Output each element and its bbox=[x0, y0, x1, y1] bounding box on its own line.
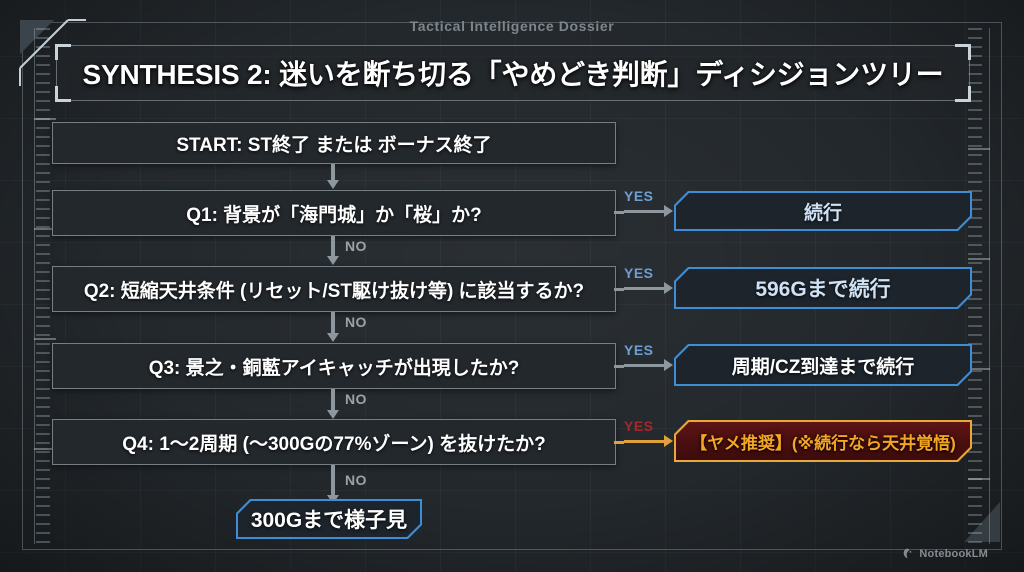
notebooklm-icon bbox=[901, 547, 914, 560]
dossier-subtitle: Tactical Intelligence Dossier bbox=[0, 18, 1024, 34]
branch-stub-4 bbox=[614, 441, 624, 444]
branch-stub-1 bbox=[614, 211, 624, 214]
slide-canvas: Tactical Intelligence Dossier SYNTHESIS … bbox=[0, 0, 1024, 572]
branch-label-yes-3: YES bbox=[624, 342, 654, 358]
outcome-label: 続行 bbox=[804, 198, 842, 225]
outcome-label: 596Gまで続行 bbox=[755, 273, 890, 303]
branch-label-yes-2: YES bbox=[624, 265, 654, 281]
branch-label-no-3: NO bbox=[345, 391, 367, 407]
flow-node-q1[interactable]: Q1: 背景が「海門城」か「桜」か? bbox=[52, 190, 616, 236]
outcome-box-596g[interactable]: 596Gまで続行 bbox=[674, 267, 972, 309]
flow-node-q2[interactable]: Q2: 短縮天井条件 (リセット/ST駆け抜け等) に該当するか? bbox=[52, 266, 616, 312]
branch-stub-3 bbox=[614, 365, 624, 368]
watermark: NotebookLM bbox=[901, 547, 988, 560]
outcome-label: 周期/CZ到達まで続行 bbox=[732, 352, 915, 379]
terminal-node-300g[interactable]: 300Gまで様子見 bbox=[236, 499, 422, 539]
title-frame: SYNTHESIS 2: 迷いを断ち切る「やめどき判断」ディシジョンツリー bbox=[56, 45, 970, 101]
flow-node-q3[interactable]: Q3: 景之・銅藍アイキャッチが出現したか? bbox=[52, 343, 616, 389]
flow-node-label: Q2: 短縮天井条件 (リセット/ST駆け抜け等) に該当するか? bbox=[84, 276, 584, 303]
flow-node-label: START: ST終了 または ボーナス終了 bbox=[176, 130, 491, 157]
flow-node-q4[interactable]: Q4: 1〜2周期 (〜300Gの77%ゾーン) を抜けたか? bbox=[52, 419, 616, 465]
terminal-label: 300Gまで様子見 bbox=[251, 504, 407, 534]
flow-node-label: Q1: 背景が「海門城」か「桜」か? bbox=[186, 200, 482, 227]
branch-label-yes-4: YES bbox=[624, 418, 654, 434]
flow-node-label: Q3: 景之・銅藍アイキャッチが出現したか? bbox=[149, 353, 520, 380]
branch-stub-2 bbox=[614, 288, 624, 291]
branch-label-no-4: NO bbox=[345, 472, 367, 488]
page-title: SYNTHESIS 2: 迷いを断ち切る「やめどき判断」ディシジョンツリー bbox=[57, 46, 969, 100]
branch-label-no-2: NO bbox=[345, 314, 367, 330]
outcome-box-stop-recommended[interactable]: 【ヤメ推奨】(※続行なら天井覚悟) bbox=[674, 420, 972, 462]
branch-label-no-1: NO bbox=[345, 238, 367, 254]
branch-label-yes-1: YES bbox=[624, 188, 654, 204]
outcome-box-cycle-cz[interactable]: 周期/CZ到達まで続行 bbox=[674, 344, 972, 386]
outcome-box-continue[interactable]: 続行 bbox=[674, 191, 972, 231]
flow-node-start[interactable]: START: ST終了 または ボーナス終了 bbox=[52, 122, 616, 164]
flow-node-label: Q4: 1〜2周期 (〜300Gの77%ゾーン) を抜けたか? bbox=[122, 429, 545, 456]
outcome-label: 【ヤメ推奨】(※続行なら天井覚悟) bbox=[690, 429, 956, 454]
watermark-label: NotebookLM bbox=[919, 548, 988, 560]
